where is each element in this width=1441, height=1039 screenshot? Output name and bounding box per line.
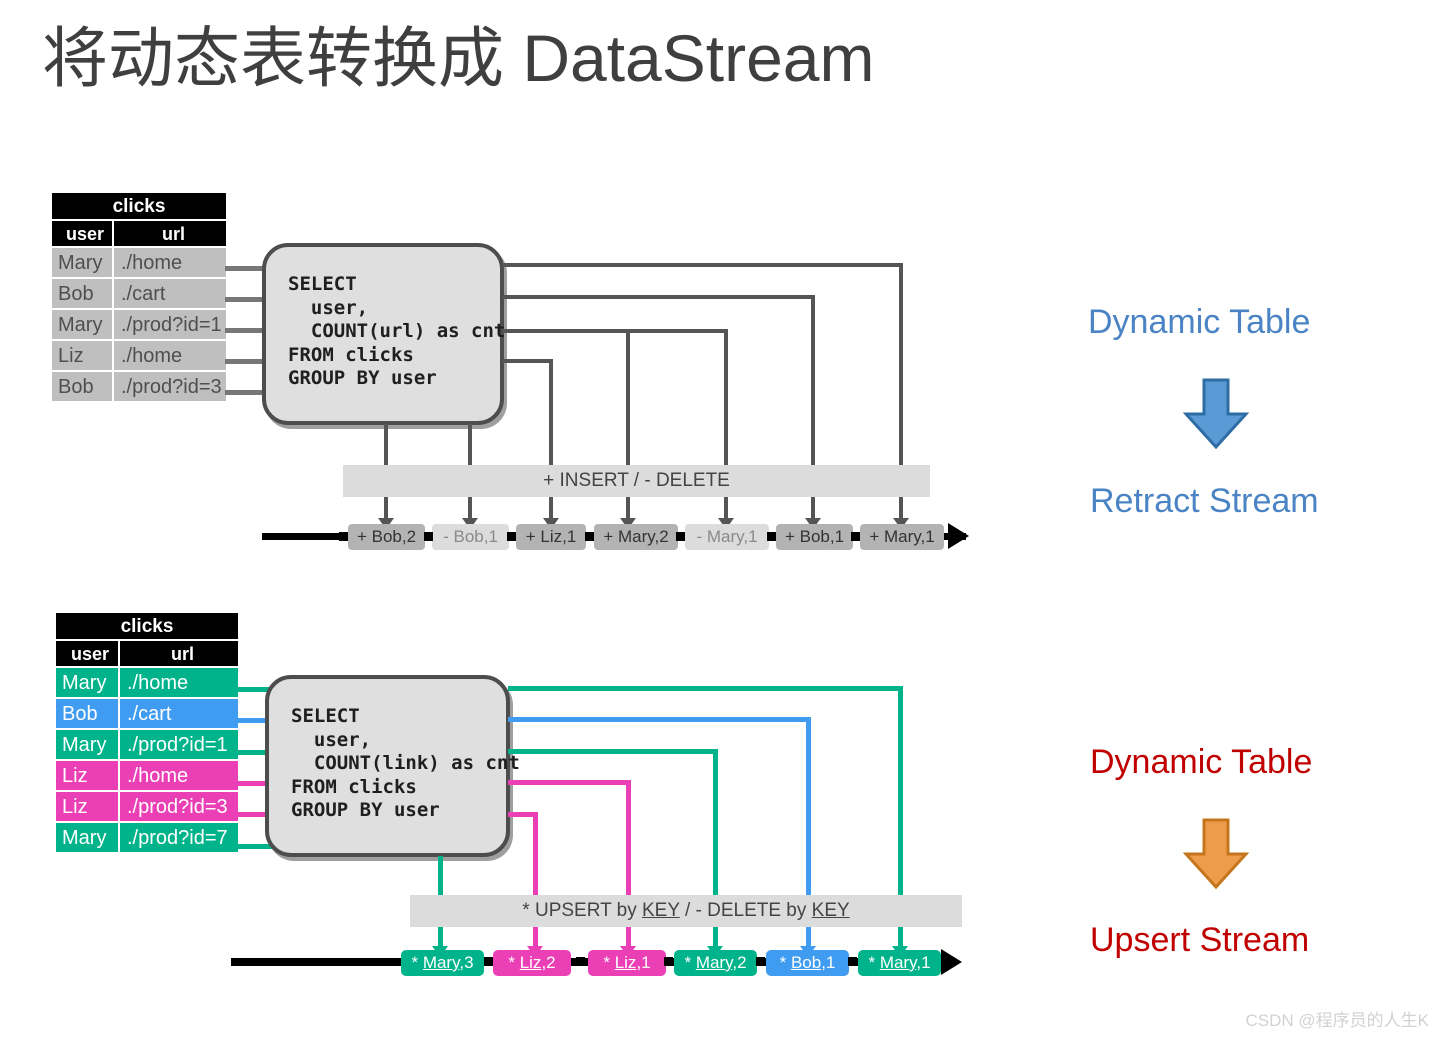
timeline-tick: [756, 957, 765, 966]
timeline-tick: [576, 957, 585, 966]
caption-dynamic-table-retract: Dynamic Table: [1088, 303, 1310, 342]
route-h-2: [502, 295, 815, 299]
table-row: Bob ./cart: [51, 278, 227, 309]
timeline-tick: [585, 532, 594, 541]
table-caption: clicks: [55, 612, 239, 640]
cell-user: Liz: [55, 791, 119, 822]
cell-user: Bob: [55, 698, 119, 729]
cell-url: ./prod?id=1: [113, 309, 227, 340]
timeline-tick: [676, 532, 685, 541]
table-row: Liz ./prod?id=3: [55, 791, 239, 822]
table-row: Mary ./home: [55, 667, 239, 698]
sql-query-box-upsert: SELECT user, COUNT(link) as cnt FROM cli…: [265, 675, 510, 857]
route-h-4: [502, 359, 553, 363]
table-row: Liz ./home: [51, 340, 227, 371]
cell-user: Bob: [51, 371, 113, 402]
route-h-3: [508, 749, 718, 754]
retract-event[interactable]: + Bob,1: [776, 524, 853, 550]
clicks-table-retract: clicks user url Mary ./home Bob ./cart M…: [51, 192, 227, 402]
table-row: Bob ./prod?id=3: [51, 371, 227, 402]
route-v-5: [533, 812, 538, 898]
cell-url: ./prod?id=7: [119, 822, 239, 853]
table-header-row: user url: [51, 220, 227, 247]
timeline-tick: [339, 532, 348, 541]
column-header-user: user: [55, 640, 119, 667]
cell-user: Bob: [51, 278, 113, 309]
timeline-tick: [484, 957, 493, 966]
retract-event[interactable]: + Mary,2: [594, 524, 678, 550]
clicks-table-upsert: clicks user url Mary ./home Bob ./cart M…: [55, 612, 239, 853]
cell-user: Liz: [51, 340, 113, 371]
retract-event[interactable]: - Mary,1: [685, 524, 769, 550]
route-h-1: [502, 263, 903, 267]
cell-user: Mary: [51, 247, 113, 278]
retract-event[interactable]: + Bob,2: [348, 524, 425, 550]
cell-url: ./cart: [113, 278, 227, 309]
timeline-arrow-icon: [941, 949, 962, 975]
route-v-2: [806, 717, 811, 898]
table-row: Mary ./prod?id=1: [51, 309, 227, 340]
cell-user: Mary: [55, 729, 119, 760]
upsert-event[interactable]: * Mary,2: [674, 950, 757, 976]
table-row: Mary ./prod?id=7: [55, 822, 239, 853]
slide-canvas: 将动态表转换成 DataStream clicks user url Mary …: [0, 0, 1441, 1039]
caption-upsert-stream: Upsert Stream: [1090, 921, 1309, 960]
route-h-4: [508, 780, 631, 785]
column-header-user: user: [51, 220, 113, 247]
cell-url: ./cart: [119, 698, 239, 729]
route-h-1: [508, 686, 903, 691]
route-v-4: [626, 780, 631, 898]
watermark: CSDN @程序员的人生K: [1246, 1006, 1430, 1031]
upsert-event[interactable]: * Bob,1: [766, 950, 849, 976]
upsert-event[interactable]: * Liz,2: [493, 950, 571, 976]
timeline-tick: [424, 532, 433, 541]
sql-query-box-retract: SELECT user, COUNT(url) as cnt FROM clic…: [262, 243, 504, 425]
retract-stream-label-bar: + INSERT / - DELETE: [343, 465, 930, 497]
column-header-url: url: [113, 220, 227, 247]
timeline-tick: [507, 532, 516, 541]
route-h-3: [502, 329, 630, 333]
arrow-down-orange-icon: [1183, 818, 1249, 890]
cell-user: Mary: [51, 309, 113, 340]
route-v-3: [626, 329, 630, 485]
upsert-event[interactable]: * Mary,1: [858, 950, 941, 976]
table-row: Bob ./cart: [55, 698, 239, 729]
timeline-tick: [851, 532, 860, 541]
table-header-row: user url: [55, 640, 239, 667]
cell-url: ./home: [113, 247, 227, 278]
cell-url: ./home: [119, 667, 239, 698]
route-v-3: [713, 749, 718, 898]
route-v-1: [899, 263, 903, 485]
timeline-tick: [767, 532, 776, 541]
route-v-6: [438, 856, 443, 898]
page-title: 将动态表转换成 DataStream: [42, 12, 874, 104]
column-header-url: url: [119, 640, 239, 667]
table-caption: clicks: [51, 192, 227, 220]
cell-user: Liz: [55, 760, 119, 791]
route-v-1: [898, 686, 903, 898]
upsert-event[interactable]: * Liz,1: [588, 950, 666, 976]
upsert-stream-label: * UPSERT by KEY / - DELETE by KEY: [522, 900, 849, 922]
cell-url: ./home: [113, 340, 227, 371]
timeline-tick: [848, 957, 857, 966]
table-row: Mary ./prod?id=1: [55, 729, 239, 760]
upsert-stream-label-bar: * UPSERT by KEY / - DELETE by KEY: [410, 895, 962, 927]
table-row: Mary ./home: [51, 247, 227, 278]
route-h-3b: [630, 329, 728, 333]
arrow-down-blue-icon: [1183, 378, 1249, 450]
cell-url: ./prod?id=3: [119, 791, 239, 822]
retract-stream-label: + INSERT / - DELETE: [543, 470, 730, 492]
upsert-event[interactable]: * Mary,3: [401, 950, 484, 976]
caption-dynamic-table-upsert: Dynamic Table: [1090, 743, 1312, 782]
cell-user: Mary: [55, 822, 119, 853]
cell-url: ./prod?id=1: [119, 729, 239, 760]
retract-event[interactable]: + Liz,1: [516, 524, 586, 550]
cell-url: ./home: [119, 760, 239, 791]
retract-event[interactable]: - Bob,1: [432, 524, 509, 550]
caption-retract-stream: Retract Stream: [1090, 482, 1319, 521]
timeline-arrow-icon: [948, 523, 969, 549]
timeline-tick: [664, 957, 673, 966]
route-h-2: [508, 717, 811, 722]
retract-event[interactable]: + Mary,1: [860, 524, 944, 550]
route-v-2: [811, 295, 815, 485]
route-v-3b: [724, 329, 728, 485]
connector-row-6: [235, 844, 273, 849]
table-row: Liz ./home: [55, 760, 239, 791]
cell-user: Mary: [55, 667, 119, 698]
cell-url: ./prod?id=3: [113, 371, 227, 402]
